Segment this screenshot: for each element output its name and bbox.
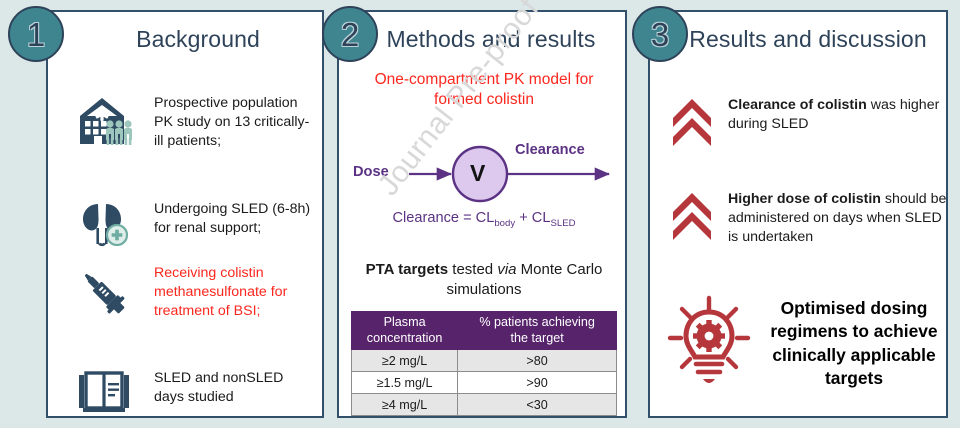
column-header-percent-line2: the target [460, 331, 614, 347]
cell-concentration: ≥4 mg/L [352, 394, 458, 416]
equation-plus: + [519, 210, 528, 226]
step-badge-1-number: 1 [27, 18, 45, 51]
panel-results: Results and discussion Clearance of coli… [648, 10, 948, 418]
panel-3-title: Results and discussion [650, 26, 946, 53]
equation-term1-sub: body [494, 218, 515, 229]
equation-operator: = [463, 210, 472, 226]
list-item-label: Receiving colistin methanesulfonate for … [154, 264, 316, 321]
column-header-percent-line1: % patients achieving [460, 315, 614, 331]
hospital-icon [66, 94, 142, 148]
list-item-label: Undergoing SLED (6-8h) for renal support… [154, 200, 316, 238]
step-badge-3-number: 3 [651, 18, 669, 51]
syringe-icon [66, 264, 142, 322]
conclusion-block: Optimised dosing regimens to achieve cli… [664, 292, 948, 395]
list-item: Prospective population PK study on 13 cr… [66, 94, 316, 151]
column-header-concentration-line1: Plasma [354, 315, 455, 331]
list-item-label: SLED and nonSLED days studied [154, 369, 316, 407]
clearance-label: Clearance [515, 142, 585, 158]
list-item-label: Clearance of colistin was higher during … [728, 96, 948, 134]
equation-term2-sub: SLED [550, 218, 575, 229]
list-item-label: Higher dose of colistin should be admini… [728, 190, 948, 247]
list-item: SLED and nonSLED days studied [66, 369, 316, 415]
pta-caption-italic: via [497, 261, 516, 278]
table-row: ≥4 mg/L <30 [352, 394, 617, 416]
column-header-concentration-line2: concentration [354, 331, 455, 347]
step-badge-1: 1 [8, 6, 64, 62]
cell-percent: >80 [458, 350, 617, 372]
equation-term1: CL [476, 210, 495, 226]
list-item: Higher dose of colistin should be admini… [666, 190, 948, 247]
dose-label: Dose [353, 164, 389, 180]
cell-percent: <30 [458, 394, 617, 416]
list-item: Clearance of colistin was higher during … [666, 96, 948, 146]
step-badge-2: 2 [322, 6, 378, 62]
clearance-equation: Clearance = CLbody + CLSLED [349, 210, 619, 229]
table-row: ≥2 mg/L >80 [352, 350, 617, 372]
column-header-concentration: Plasma concentration [352, 312, 458, 350]
list-item-label-bold: Clearance of colistin [728, 97, 867, 113]
lightbulb-gear-icon [664, 292, 760, 395]
pta-caption-mid: tested [448, 261, 497, 278]
panel-1-title: Background [48, 26, 322, 53]
graphical-abstract: Background [0, 0, 960, 428]
list-item: Receiving colistin methanesulfonate for … [66, 264, 316, 322]
cell-concentration: ≥2 mg/L [352, 350, 458, 372]
pta-caption: PTA targets tested via Monte Carlo simul… [351, 260, 617, 299]
equation-lhs: Clearance [392, 210, 459, 226]
pta-table: Plasma concentration % patients achievin… [351, 311, 617, 416]
panel-methods: Methods and results One-compartment PK m… [337, 10, 627, 418]
cell-concentration: ≥1.5 mg/L [352, 372, 458, 394]
equation-term2: CL [532, 210, 551, 226]
cell-percent: >90 [458, 372, 617, 394]
double-chevron-up-icon [666, 96, 718, 146]
pta-caption-bold: PTA targets [366, 261, 449, 278]
kidneys-icon [66, 200, 142, 248]
list-item-label: Prospective population PK study on 13 cr… [154, 94, 316, 151]
list-item: Undergoing SLED (6-8h) for renal support… [66, 200, 316, 248]
step-badge-2-number: 2 [341, 18, 359, 51]
step-badge-3: 3 [632, 6, 688, 62]
pk-compartment-diagram: Dose V Clearance [347, 130, 621, 206]
column-header-percent: % patients achieving the target [458, 312, 617, 350]
conclusion-label: Optimised dosing regimens to achieve cli… [760, 297, 948, 390]
table-row: ≥1.5 mg/L >90 [352, 372, 617, 394]
model-caption: One-compartment PK model for formed coli… [349, 70, 619, 110]
double-chevron-up-icon [666, 190, 718, 240]
open-book-icon [66, 369, 142, 415]
table-header-row: Plasma concentration % patients achievin… [352, 312, 617, 350]
compartment-label: V [470, 160, 485, 187]
panel-background: Background [46, 10, 324, 418]
panel-2-title: Methods and results [339, 26, 625, 53]
list-item-label-bold: Higher dose of colistin [728, 191, 881, 207]
